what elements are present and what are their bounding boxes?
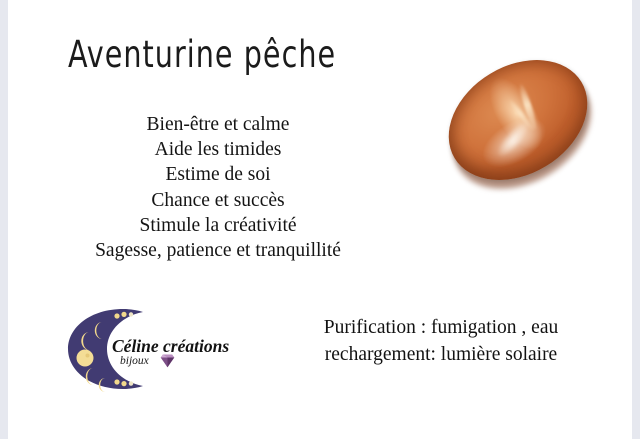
peach-aventurine-stone-image [430, 50, 610, 190]
gem-diamond-icon [158, 353, 177, 368]
purification-line: Purification : fumigation , eau [246, 314, 636, 341]
right-edge-strip [632, 0, 640, 439]
list-item: Aide les timides [8, 137, 428, 162]
stone-highlight [493, 117, 534, 161]
list-item: Bien-être et calme [8, 112, 428, 137]
crystal-info-card: Aventurine pêche Bien-être et calme Aide… [8, 0, 632, 439]
care-instructions: Purification : fumigation , eau recharge… [246, 314, 636, 368]
list-item: Estime de soi [8, 162, 428, 187]
benefits-list: Bien-être et calme Aide les timides Esti… [8, 112, 428, 263]
page-title: Aventurine pêche [68, 33, 336, 76]
list-item: Stimule la créativité [8, 213, 428, 238]
list-item: Sagesse, patience et tranquillité [8, 238, 428, 263]
brand-logo[interactable]: Céline créations bijoux [60, 306, 225, 392]
list-item: Chance et succès [8, 188, 428, 213]
brand-subtitle: bijoux [120, 355, 149, 367]
left-edge-strip [0, 0, 8, 439]
recharge-line: rechargement: lumière solaire [246, 341, 636, 368]
